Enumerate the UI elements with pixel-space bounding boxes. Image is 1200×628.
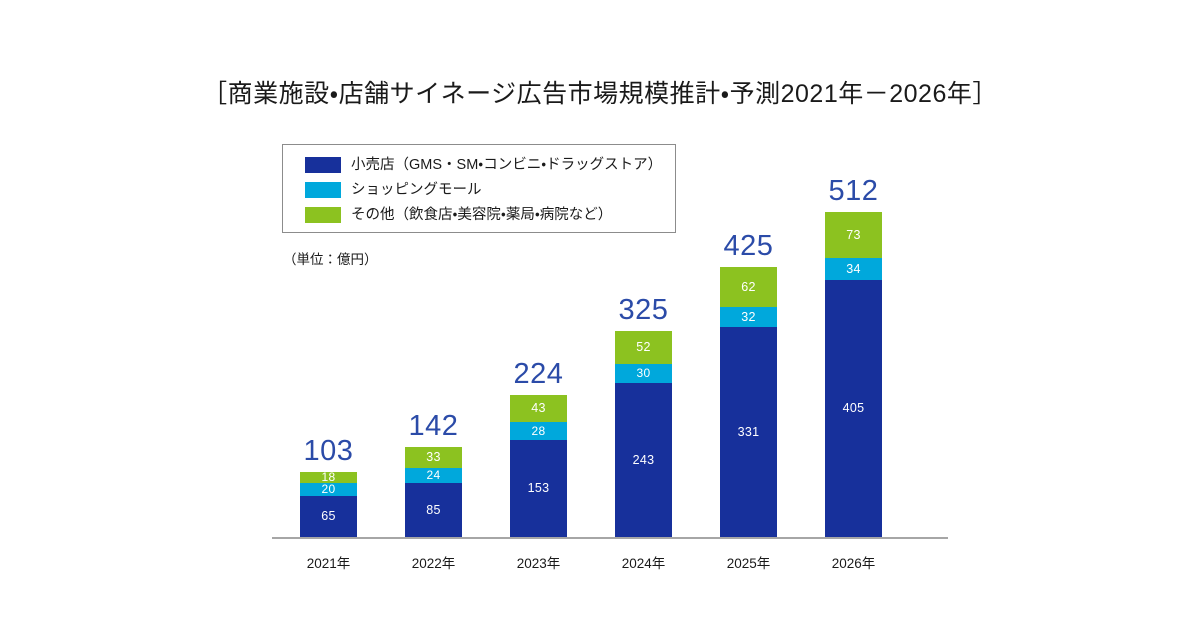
x-axis-tick-label: 2025年 [696,552,801,572]
bar-total-label: 325 [591,295,696,325]
bar-segment-value: 30 [637,367,651,379]
bar-segment[interactable]: 30 [615,364,672,383]
x-axis-tick-label: 2022年 [381,552,486,572]
bar-stack[interactable]: 182065 [300,472,357,537]
bar-segment[interactable]: 243 [615,383,672,537]
bar-stack[interactable]: 7334405 [825,212,882,537]
x-axis-tick-label: 2023年 [486,552,591,572]
bar-segment-value: 34 [846,263,861,276]
bar-total-label: 512 [801,176,906,206]
bar-segment-value: 243 [633,454,655,467]
bar-segment[interactable]: 28 [510,422,567,440]
bar-segment[interactable]: 52 [615,331,672,364]
bar-segment[interactable]: 73 [825,212,882,258]
bar-segment-value: 85 [426,504,441,517]
bar-segment-value: 28 [532,425,546,437]
bar-segment-value: 20 [322,483,336,495]
bar-segment-value: 153 [528,482,550,495]
chart-plot-area: 1820651032021年3324851422022年432815322420… [0,0,1200,628]
bar-segment-value: 43 [531,402,546,415]
bar-stack[interactable]: 4328153 [510,395,567,537]
bar-stack[interactable]: 5230243 [615,331,672,537]
bar-segment[interactable]: 331 [720,327,777,537]
bar-segment[interactable]: 18 [300,472,357,483]
bar-segment-value: 331 [738,426,760,439]
bar-segment[interactable]: 62 [720,267,777,306]
bar-segment-value: 65 [321,510,336,523]
bar-total-label: 142 [381,411,486,441]
bar-segment-value: 73 [846,229,861,242]
bar-segment[interactable]: 153 [510,440,567,537]
bar-segment[interactable]: 20 [300,483,357,496]
bar-segment[interactable]: 32 [720,307,777,327]
bar-segment[interactable]: 405 [825,280,882,537]
bar-segment-value: 33 [426,451,441,464]
bar-segment-value: 32 [741,311,756,324]
bar-segment[interactable]: 33 [405,447,462,468]
bar-segment-value: 24 [427,469,441,481]
bar-segment[interactable]: 65 [300,496,357,537]
bar-total-label: 425 [696,231,801,261]
bar-total-label: 224 [486,359,591,389]
bar-segment[interactable]: 43 [510,395,567,422]
x-axis-tick-label: 2021年 [276,552,381,572]
bar-total-label: 103 [276,436,381,466]
x-axis-line [272,537,948,539]
bar-segment-value: 62 [741,281,756,294]
x-axis-tick-label: 2024年 [591,552,696,572]
bar-segment[interactable]: 24 [405,468,462,483]
x-axis-tick-label: 2026年 [801,552,906,572]
bar-segment[interactable]: 34 [825,258,882,280]
bar-segment-value: 405 [843,402,865,415]
bar-stack[interactable]: 6232331 [720,267,777,537]
bar-segment[interactable]: 85 [405,483,462,537]
bar-stack[interactable]: 332485 [405,447,462,537]
bar-segment-value: 52 [636,341,651,354]
